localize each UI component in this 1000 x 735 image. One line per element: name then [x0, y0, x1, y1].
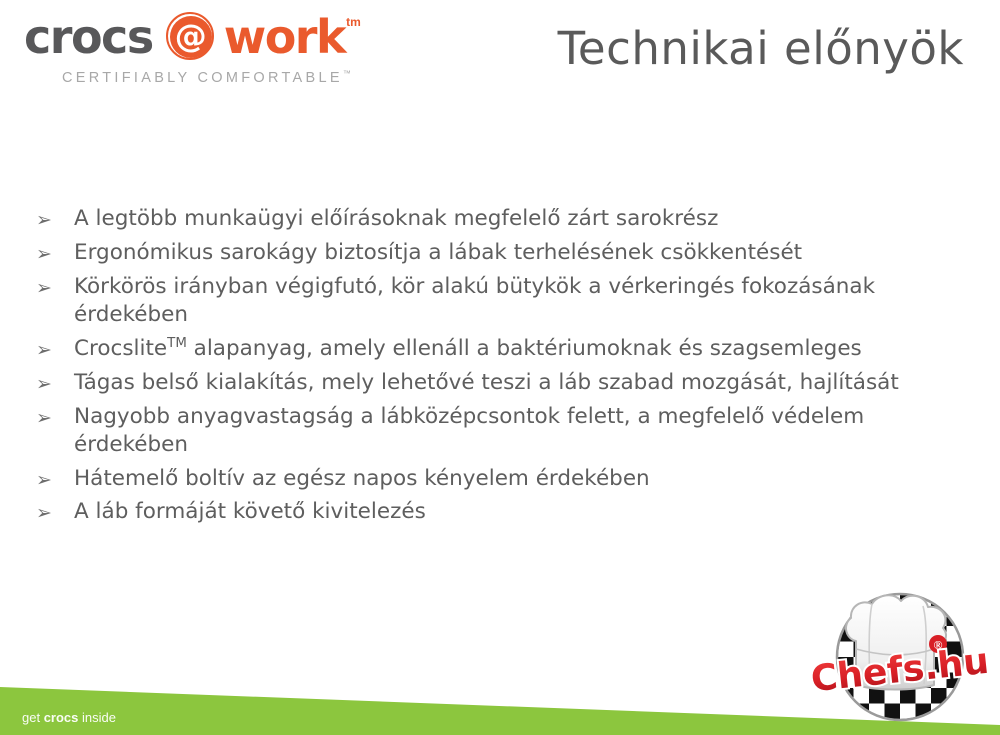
brand-wordmark: crocs @ work tm: [24, 12, 404, 62]
page-title: Technikai előnyök: [558, 22, 964, 75]
arrow-bullet-icon: ➢: [30, 239, 74, 264]
list-item: ➢ Nagyobb anyagvastagság a lábközépcsont…: [30, 403, 930, 459]
presentation-slide: crocs @ work tm CERTIFIABLY COMFORTABLE™…: [0, 0, 1000, 735]
bullet-list: ➢ A legtöbb munkaügyi előírásoknak megfe…: [30, 205, 930, 532]
arrow-bullet-icon: ➢: [30, 465, 74, 490]
brand-word-work: work: [224, 14, 345, 60]
list-item-label: A legtöbb munkaügyi előírásoknak megfele…: [74, 205, 718, 233]
chefs-hu-logo: ® Chefs.hu: [810, 589, 990, 727]
list-item-label: Hátemelő boltív az egész napos kényelem …: [74, 465, 650, 493]
list-item: ➢ CrocsliteTM alapanyag, amely ellenáll …: [30, 335, 930, 363]
list-item-label-rest: alapanyag, amely ellenáll a baktériumokn…: [187, 336, 862, 361]
footer-caption: get crocs inside: [22, 710, 116, 725]
list-item-label: Tágas belső kialakítás, mely lehetővé te…: [74, 369, 899, 397]
list-item-label: CrocsliteTM alapanyag, amely ellenáll a …: [74, 335, 862, 363]
arrow-bullet-icon: ➢: [30, 403, 74, 428]
brand-trademark: tm: [346, 16, 361, 28]
list-item-label: Ergonómikus sarokágy biztosítja a lábak …: [74, 239, 802, 267]
at-symbol-icon: @: [165, 11, 217, 63]
crocslite-name: Crocslite: [74, 336, 167, 361]
list-item: ➢ Hátemelő boltív az egész napos kényele…: [30, 465, 930, 493]
list-item-label: Nagyobb anyagvastagság a lábközépcsontok…: [74, 403, 914, 459]
brand-tagline-trademark: ™: [343, 69, 351, 78]
crocslite-trademark: TM: [167, 336, 187, 351]
arrow-bullet-icon: ➢: [30, 369, 74, 394]
arrow-bullet-icon: ➢: [30, 498, 74, 523]
list-item: ➢ Körkörös irányban végigfutó, kör alakú…: [30, 273, 930, 329]
list-item-label: Körkörös irányban végigfutó, kör alakú b…: [74, 273, 914, 329]
arrow-bullet-icon: ➢: [30, 335, 74, 360]
list-item: ➢ Tágas belső kialakítás, mely lehetővé …: [30, 369, 930, 397]
brand-tagline: CERTIFIABLY COMFORTABLE™: [62, 69, 404, 86]
crocs-at-work-logo: crocs @ work tm CERTIFIABLY COMFORTABLE™: [24, 12, 404, 92]
brand-word-crocs: crocs: [24, 14, 153, 60]
arrow-bullet-icon: ➢: [30, 205, 74, 230]
footer-caption-crocs: crocs: [44, 710, 79, 725]
list-item: ➢ Ergonómikus sarokágy biztosítja a lába…: [30, 239, 930, 267]
footer-caption-inside: inside: [78, 710, 116, 725]
list-item-label: A láb formáját követő kivitelezés: [74, 498, 426, 526]
brand-tagline-text: CERTIFIABLY COMFORTABLE: [62, 70, 343, 86]
footer-caption-get: get: [22, 710, 44, 725]
list-item: ➢ A láb formáját követő kivitelezés: [30, 498, 930, 526]
arrow-bullet-icon: ➢: [30, 273, 74, 298]
list-item: ➢ A legtöbb munkaügyi előírásoknak megfe…: [30, 205, 930, 233]
at-glyph: @: [165, 11, 217, 63]
